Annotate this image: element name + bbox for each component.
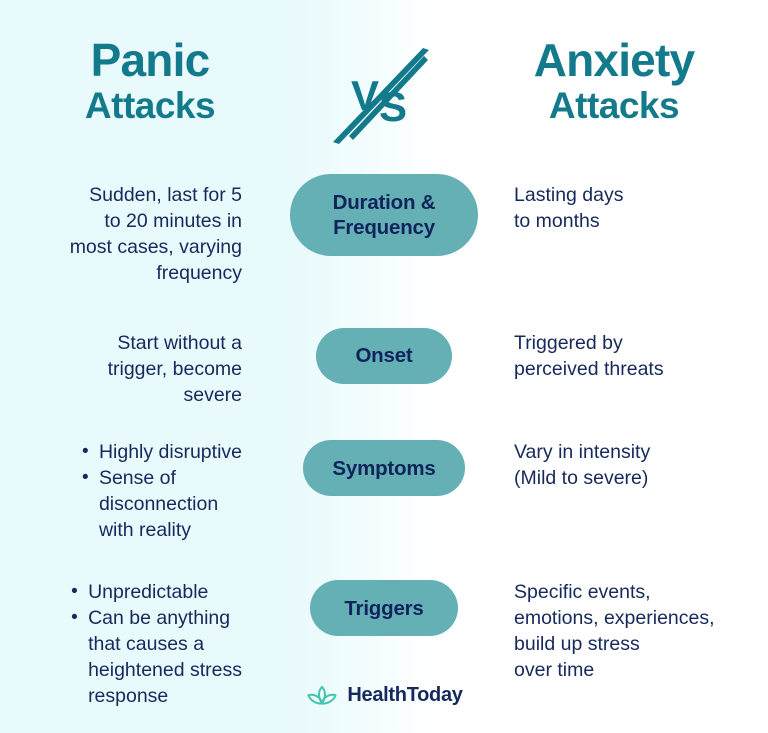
text-line: Sense of [99, 467, 176, 489]
panic-cell: Start without a trigger, become severe [0, 325, 258, 409]
text-line: Sudden, last for 5 [89, 184, 242, 206]
text-line: Vary in intensity [514, 441, 650, 463]
footer-brand: HealthToday [0, 684, 768, 707]
svg-text:S: S [379, 83, 406, 130]
category-pill-symptoms[interactable]: Symptoms [303, 440, 465, 496]
category-cell: Triggers [258, 574, 510, 636]
comparison-rows: Sudden, last for 5 to 20 minutes in most… [0, 174, 768, 710]
category-pill-triggers[interactable]: Triggers [310, 580, 458, 636]
anxiety-cell: Specific events, emotions, experiences, … [510, 574, 768, 684]
panic-text: Start without a trigger, become severe [108, 331, 242, 409]
panic-attacks-title: Panic Attacks [0, 38, 300, 124]
anxiety-title-sub: Attacks [460, 88, 768, 124]
list-item: Unpredictable [71, 580, 242, 606]
category-cell: Duration & Frequency [258, 174, 510, 256]
category-cell: Onset [258, 325, 510, 384]
anxiety-text: Specific events, emotions, experiences, … [514, 580, 768, 684]
text-line: with reality [99, 519, 191, 541]
text-line: build up stress [514, 633, 640, 655]
text-line: to months [514, 210, 600, 232]
svg-text:V: V [351, 72, 379, 119]
text-line: Unpredictable [88, 581, 208, 603]
text-line: Highly disruptive [99, 441, 242, 463]
text-line: perceived threats [514, 358, 664, 380]
category-pill-onset[interactable]: Onset [316, 328, 452, 384]
anxiety-cell: Lasting days to months [510, 174, 768, 235]
text-line: Can be anything [88, 607, 230, 629]
panic-cell: Highly disruptive Sense of disconnection… [0, 436, 258, 544]
text-line: Start without a [117, 332, 242, 354]
vs-badge: V S [329, 44, 439, 150]
anxiety-text: Vary in intensity (Mild to severe) [514, 440, 768, 492]
anxiety-text: Triggered by perceived threats [514, 331, 768, 383]
panic-title-sub: Attacks [0, 88, 300, 124]
text-line: Specific events, [514, 581, 651, 603]
comparison-row: Sudden, last for 5 to 20 minutes in most… [0, 174, 768, 287]
anxiety-title-main: Anxiety [460, 38, 768, 83]
category-cell: Symptoms [258, 436, 510, 496]
brand-name: HealthToday [347, 684, 462, 707]
text-line: disconnection [99, 493, 218, 515]
comparison-row: Start without a trigger, become severe O… [0, 325, 768, 409]
text-line: heightened stress [88, 659, 242, 681]
header: Panic Attacks V S Anxiety Attacks [0, 0, 768, 160]
panic-bullet-list: Highly disruptive Sense of disconnection… [82, 440, 242, 544]
text-line: emotions, experiences, [514, 607, 715, 629]
pill-label: Onset [355, 343, 412, 368]
text-line: that causes a [88, 633, 204, 655]
lotus-icon [305, 685, 339, 707]
text-line: most cases, varying [70, 236, 242, 258]
anxiety-cell: Triggered by perceived threats [510, 325, 768, 383]
text-line: Triggered by [514, 332, 623, 354]
text-line: to 20 minutes in [104, 210, 242, 232]
pill-label-line: Frequency [333, 216, 435, 239]
panic-text: Sudden, last for 5 to 20 minutes in most… [70, 183, 242, 287]
anxiety-attacks-title: Anxiety Attacks [460, 38, 768, 124]
text-line: over time [514, 659, 594, 681]
pill-label-line: Duration & [333, 191, 436, 214]
vs-icon: V S [329, 44, 439, 150]
list-item: Sense of disconnection with reality [82, 466, 242, 544]
anxiety-cell: Vary in intensity (Mild to severe) [510, 436, 768, 492]
infographic-root: Panic Attacks V S Anxiety Attacks Sudd [0, 0, 768, 733]
category-pill-duration-frequency[interactable]: Duration & Frequency [290, 174, 478, 256]
list-item: Highly disruptive [82, 440, 242, 466]
panic-title-main: Panic [0, 38, 300, 83]
text-line: trigger, become [108, 358, 242, 380]
text-line: (Mild to severe) [514, 467, 648, 489]
pill-label: Triggers [344, 596, 423, 621]
text-line: frequency [156, 262, 242, 284]
comparison-row: Highly disruptive Sense of disconnection… [0, 436, 768, 544]
pill-label: Symptoms [332, 456, 435, 481]
text-line: Lasting days [514, 184, 624, 206]
anxiety-text: Lasting days to months [514, 183, 768, 235]
text-line: severe [183, 384, 242, 406]
panic-cell: Sudden, last for 5 to 20 minutes in most… [0, 174, 258, 287]
